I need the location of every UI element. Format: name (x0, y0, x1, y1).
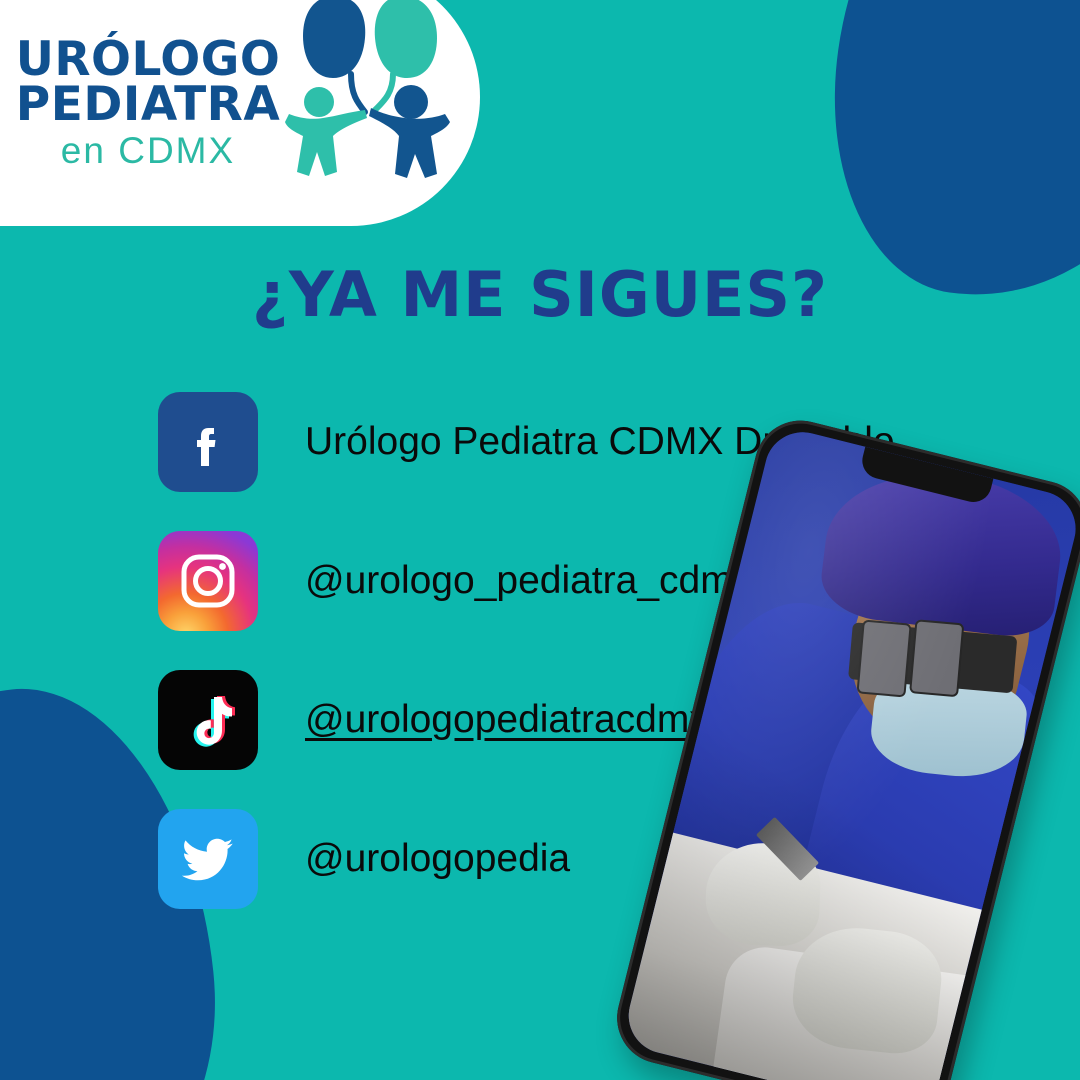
tiktok-icon[interactable] (158, 670, 258, 770)
brand-line-1: URÓLOGO (8, 38, 288, 83)
instagram-icon[interactable] (158, 531, 258, 631)
page-title: ¿YA ME SIGUES? (0, 258, 1080, 331)
facebook-icon[interactable] (158, 392, 258, 492)
brand-line-2: PEDIATRA (8, 83, 288, 128)
instagram-handle[interactable]: @urologo_pediatra_cdmx (305, 559, 752, 603)
kidneys-and-children-logo-icon (285, 0, 450, 191)
tiktok-handle[interactable]: @urologopediatracdmx (305, 698, 709, 742)
social-media-promo-poster: URÓLOGO PEDIATRA en CDMX ¿YA ME S (0, 0, 1080, 1080)
twitter-icon[interactable] (158, 809, 258, 909)
brand-logo-container: URÓLOGO PEDIATRA en CDMX (0, 0, 480, 226)
twitter-handle[interactable]: @urologopedia (305, 837, 570, 881)
brand-wordmark: URÓLOGO PEDIATRA en CDMX (8, 38, 288, 168)
brand-line-3: en CDMX (8, 133, 288, 168)
